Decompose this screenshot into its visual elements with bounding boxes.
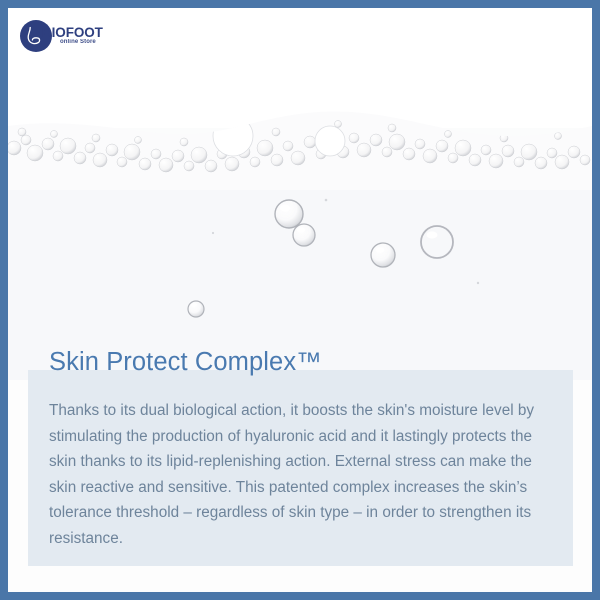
logo-tagline: online Store bbox=[60, 39, 96, 45]
bubble bbox=[293, 224, 315, 246]
card-inner: BIOFOOT online Store Skin Protect Comple… bbox=[8, 8, 592, 592]
biofoot-foot-logo-icon bbox=[27, 26, 43, 46]
logo-wordmark: BIOFOOT bbox=[42, 26, 103, 40]
logo-name-part2: FOOT bbox=[66, 25, 103, 40]
logo-name-part1: BIO bbox=[42, 25, 66, 40]
body-paragraph: Thanks to its dual biological action, it… bbox=[49, 398, 559, 552]
bubble bbox=[188, 301, 204, 317]
bubble bbox=[371, 243, 395, 267]
hero-water-image bbox=[8, 8, 592, 380]
brand-logo[interactable]: BIOFOOT online Store bbox=[20, 20, 140, 54]
promo-card: BIOFOOT online Store Skin Protect Comple… bbox=[0, 0, 600, 600]
text-panel: Skin Protect Complex™ Thanks to its dual… bbox=[28, 370, 573, 566]
bubble bbox=[275, 200, 303, 228]
page-title: Skin Protect Complex™ bbox=[49, 348, 322, 377]
water-scene-svg bbox=[8, 8, 592, 380]
